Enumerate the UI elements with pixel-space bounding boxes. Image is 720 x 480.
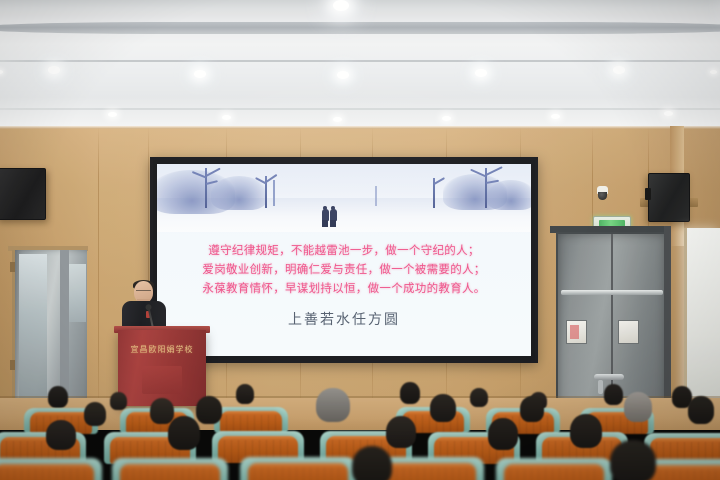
door-push-bar[interactable] [561,290,663,295]
tree-branch [206,180,218,184]
snow-tree [465,164,511,208]
ceiling-light [333,0,349,11]
seat[interactable] [504,464,604,480]
ceiling-light [475,69,487,77]
ceiling-light [442,116,451,121]
audience-head [624,392,652,422]
door-hinge [10,262,15,272]
ceiling-light [337,71,349,79]
tree-branch [470,169,486,177]
seat[interactable] [120,464,220,480]
figure-legs [330,220,336,227]
slide-red-line-2: 爱岗敬业创新，明确仁爱与责任，做一个被需要的人； [157,261,531,277]
dome-camera-icon [596,186,609,201]
audience-head [470,388,488,407]
audience-area [0,380,720,480]
ceiling-light [0,70,3,74]
ceiling-band-upper [0,22,720,34]
snow-post [273,180,275,206]
tree-branch [486,166,503,175]
podium-sign-text: 宜昌欧阳娟学校 [118,344,206,355]
audience-head [196,396,222,424]
door-window [566,320,587,344]
door-window [69,264,86,322]
ceiling-light [222,115,231,120]
audience-head [84,402,106,426]
ceiling-light [48,66,60,74]
ceiling-light [108,112,117,117]
audience-head [352,446,392,480]
camera-dome [598,192,607,200]
snow-tree [419,174,453,208]
ceiling-light [551,114,560,119]
door-window [618,320,639,344]
seat[interactable] [248,463,348,480]
audience-head [688,396,714,424]
slide-red-line-1: 遵守纪律规矩，不能越雷池一步，做一个守纪的人； [157,242,531,258]
audience-head [400,382,420,404]
audience-head [488,418,518,450]
door-post-right [664,226,671,406]
tree-branch [206,167,221,176]
projection-screen: 遵守纪律规矩，不能越雷池一步，做一个守纪的人； 爱岗敬业创新，明确仁爱与责任，做… [157,164,531,356]
figure-legs [322,220,328,227]
audience-head [110,392,127,410]
wall-panel-seam [98,126,99,406]
audience-head [168,416,200,450]
ceiling-seam-lower [0,108,720,110]
audience-head [430,394,456,422]
audience-head [150,398,174,424]
snow-post [375,186,377,206]
audience-head [610,440,656,480]
wall-speaker-left [0,168,46,220]
auditorium-photo: 遵守纪律规矩，不能越雷池一步，做一个守纪的人； 爱岗敬业创新，明确仁爱与责任，做… [0,0,720,480]
tree-branch [486,179,499,183]
wall-cornice [0,126,720,129]
audience-head [48,386,68,408]
ceiling-seam-mid [0,60,720,62]
seat[interactable] [220,411,282,433]
presenter-glasses [136,290,151,295]
tree-branch [434,177,445,184]
ceiling-light [710,70,717,74]
ceiling-light [613,66,625,74]
audience-head [316,388,350,422]
audience-head [236,384,254,404]
audience-head [386,416,416,448]
snow-tree [251,172,285,208]
audience-head [520,396,544,422]
slide-red-line-3: 永葆教育情怀，早谋划持以恒，做一个成功的教育人。 [157,280,531,296]
slide-photo-winter [157,164,531,232]
ceiling-light [333,117,342,122]
ceiling [0,0,720,130]
audience-head [46,420,76,450]
snow-tree [187,164,227,208]
ceiling-light [664,111,673,116]
door-hinge [10,360,15,370]
slide-footer-line: 上善若水任方圆 [157,309,531,329]
audience-head [570,414,602,448]
seat[interactable] [0,464,94,480]
wall-speaker-right [648,173,690,222]
tree-branch [266,173,278,182]
ceiling-light [194,70,206,78]
audience-head [604,384,623,405]
